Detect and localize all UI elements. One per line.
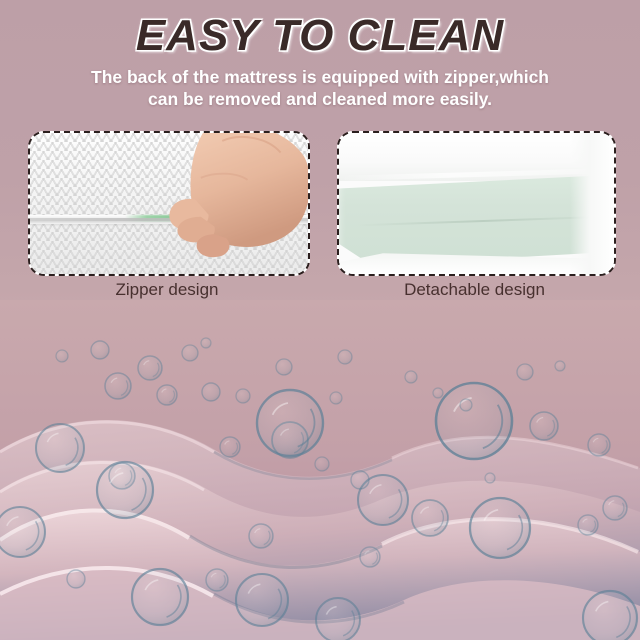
bubble	[412, 500, 448, 536]
bubble	[588, 434, 610, 456]
bubble	[56, 350, 68, 362]
bubble	[206, 569, 228, 591]
bubble	[338, 350, 352, 364]
bubble	[276, 359, 292, 375]
bubble	[316, 598, 360, 640]
foam-assembly	[339, 133, 614, 274]
subtitle-line-2: can be removed and cleaned more easily.	[0, 88, 640, 110]
bubble	[485, 473, 495, 483]
bubble	[138, 356, 162, 380]
bubble	[36, 424, 84, 472]
panel-detachable-design[interactable]	[337, 131, 616, 276]
caption-detachable-design: Detachable design	[337, 280, 612, 300]
infographic-canvas: EASY TO CLEAN The back of the mattress i…	[0, 0, 640, 640]
bubble	[202, 383, 220, 401]
bubble	[97, 462, 153, 518]
bubble	[460, 399, 472, 411]
bubble	[405, 371, 417, 383]
zipper-photo	[30, 133, 308, 274]
caption-zipper-design: Zipper design	[28, 280, 306, 300]
bubble	[236, 574, 288, 626]
bubble	[517, 364, 533, 380]
bubble	[91, 341, 109, 359]
bubble	[201, 338, 211, 348]
header: EASY TO CLEAN The back of the mattress i…	[0, 0, 640, 110]
page-subtitle: The back of the mattress is equipped wit…	[0, 60, 640, 110]
bubble	[578, 515, 598, 535]
bubble	[105, 373, 131, 399]
bubble	[351, 471, 369, 489]
panel-zipper-design[interactable]	[28, 131, 310, 276]
bubble	[583, 591, 637, 640]
hand-illustration	[158, 133, 308, 270]
bubble	[360, 547, 380, 567]
bubble	[182, 345, 198, 361]
wave-bubble-scene	[0, 300, 640, 640]
cover-right-layer	[570, 133, 614, 274]
bubble	[530, 412, 558, 440]
subtitle-line-1: The back of the mattress is equipped wit…	[91, 67, 549, 87]
page-title: EASY TO CLEAN	[0, 0, 640, 60]
bubble	[555, 361, 565, 371]
bubble	[470, 498, 530, 558]
bubble	[436, 383, 512, 459]
bubble	[257, 390, 323, 456]
bubble	[236, 389, 250, 403]
bubble	[249, 524, 273, 548]
bubble	[433, 388, 443, 398]
bubble	[157, 385, 177, 405]
bubble	[220, 437, 240, 457]
bubble	[330, 392, 342, 404]
bubble	[67, 570, 85, 588]
detachable-photo	[339, 133, 614, 274]
bubble	[603, 496, 627, 520]
bubble	[132, 569, 188, 625]
bubble	[0, 507, 45, 557]
bubble	[315, 457, 329, 471]
